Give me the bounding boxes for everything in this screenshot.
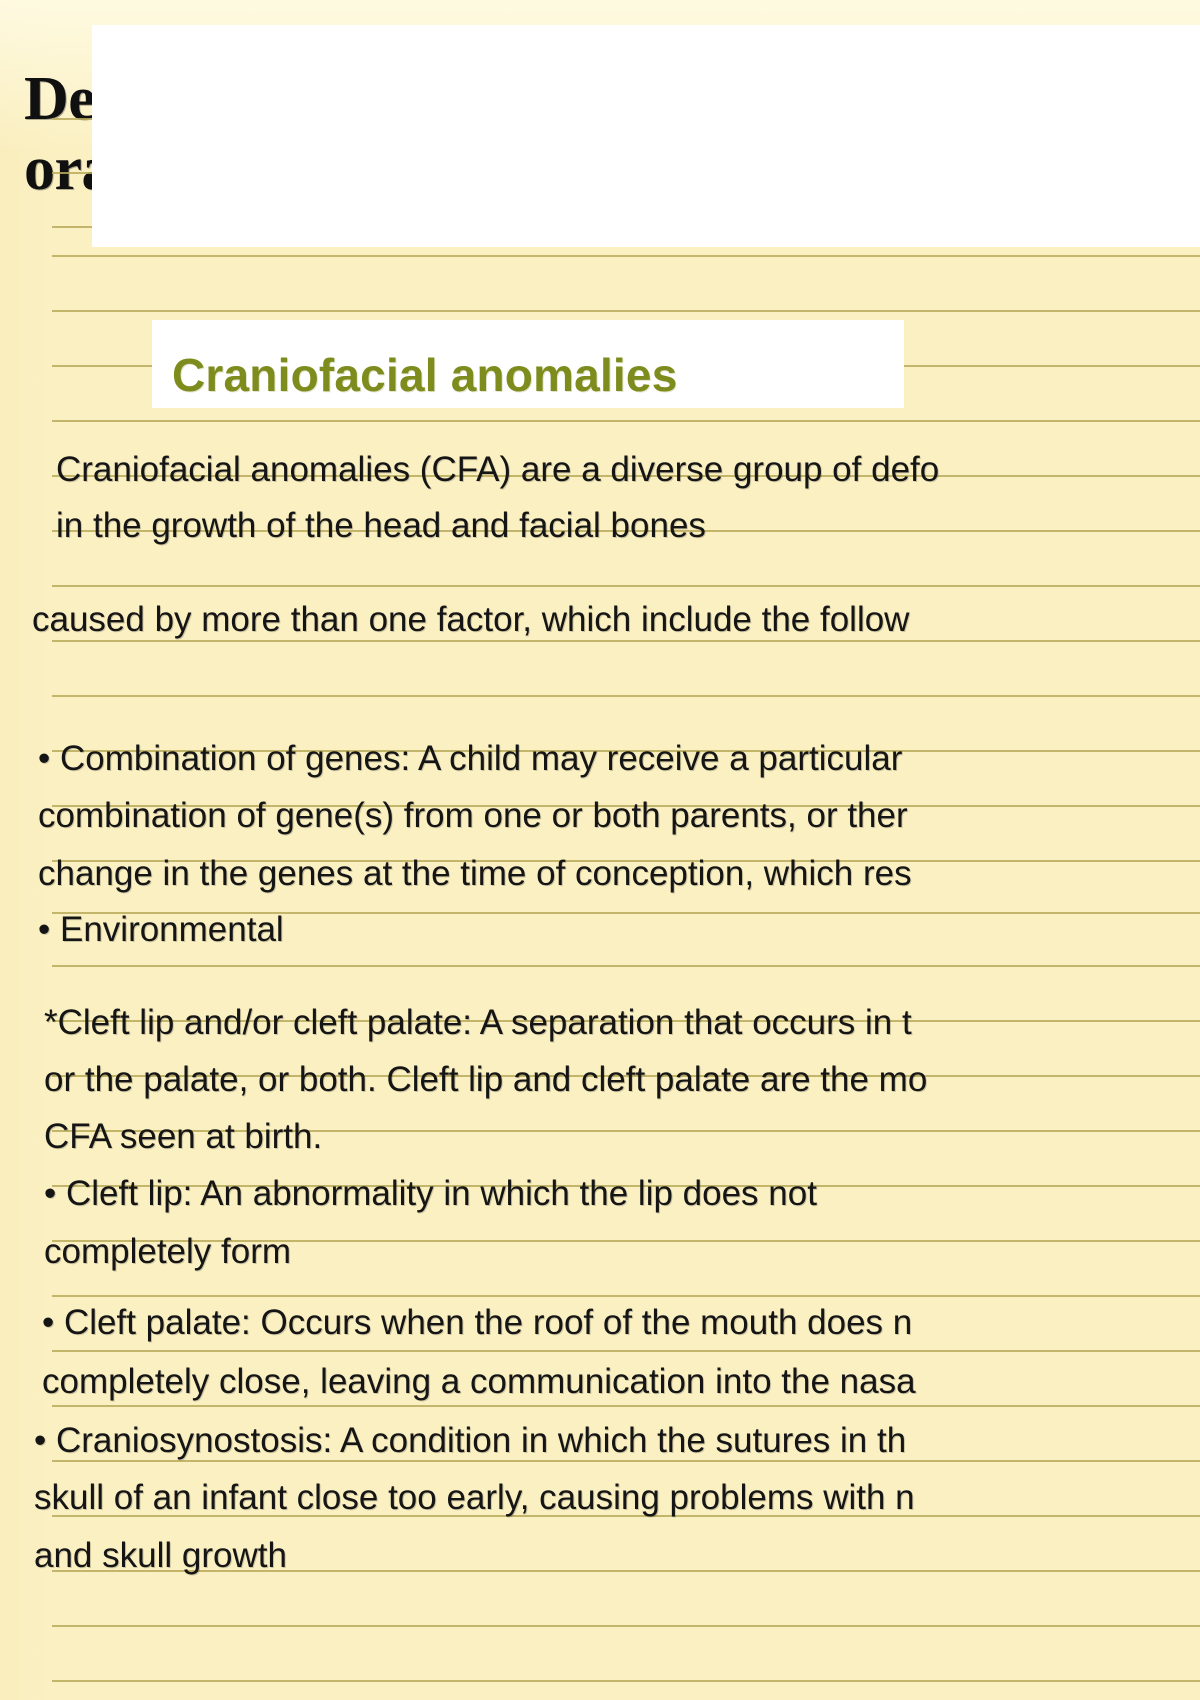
rule-line	[52, 420, 1200, 422]
body-text-line: and skull growth	[34, 1536, 287, 1576]
rule-line	[52, 585, 1200, 587]
body-text-line: *Cleft lip and/or cleft palate: A separa…	[44, 1003, 912, 1043]
body-text-line: • Combination of genes: A child may rece…	[38, 739, 902, 779]
body-text-line: • Craniosynostosis: A condition in which…	[34, 1421, 906, 1461]
rule-line	[52, 1295, 1200, 1297]
rule-line	[52, 1350, 1200, 1352]
rule-line	[52, 695, 1200, 697]
title-white-box	[92, 25, 1200, 247]
slide-canvas: Developmental disturbances of oral and p…	[0, 0, 1200, 1700]
body-text-line: Craniofacial anomalies (CFA) are a diver…	[56, 450, 939, 490]
rule-line	[52, 310, 1200, 312]
body-text-line: or the palate, or both. Cleft lip and cl…	[44, 1060, 927, 1100]
body-text-line: completely close, leaving a communicatio…	[42, 1362, 916, 1402]
body-text-line: completely form	[44, 1232, 291, 1272]
body-text-line: in the growth of the head and facial bon…	[56, 506, 706, 546]
rule-line	[52, 965, 1200, 967]
body-text-line: combination of gene(s) from one or both …	[38, 796, 908, 836]
rule-line	[52, 1405, 1200, 1407]
body-text-line: • Cleft palate: Occurs when the roof of …	[42, 1303, 912, 1343]
rule-line	[52, 1680, 1200, 1682]
body-text-line: change in the genes at the time of conce…	[38, 854, 912, 894]
body-text-line: • Environmental	[38, 910, 284, 950]
rule-line	[52, 640, 1200, 642]
rule-line	[52, 1625, 1200, 1627]
section-heading: Craniofacial anomalies	[172, 348, 677, 402]
body-text-line: • Cleft lip: An abnormality in which the…	[44, 1174, 817, 1214]
body-text-line: skull of an infant close too early, caus…	[34, 1478, 915, 1518]
rule-line	[52, 255, 1200, 257]
body-text-line: caused by more than one factor, which in…	[32, 600, 909, 640]
body-text-line: CFA seen at birth.	[44, 1117, 322, 1157]
